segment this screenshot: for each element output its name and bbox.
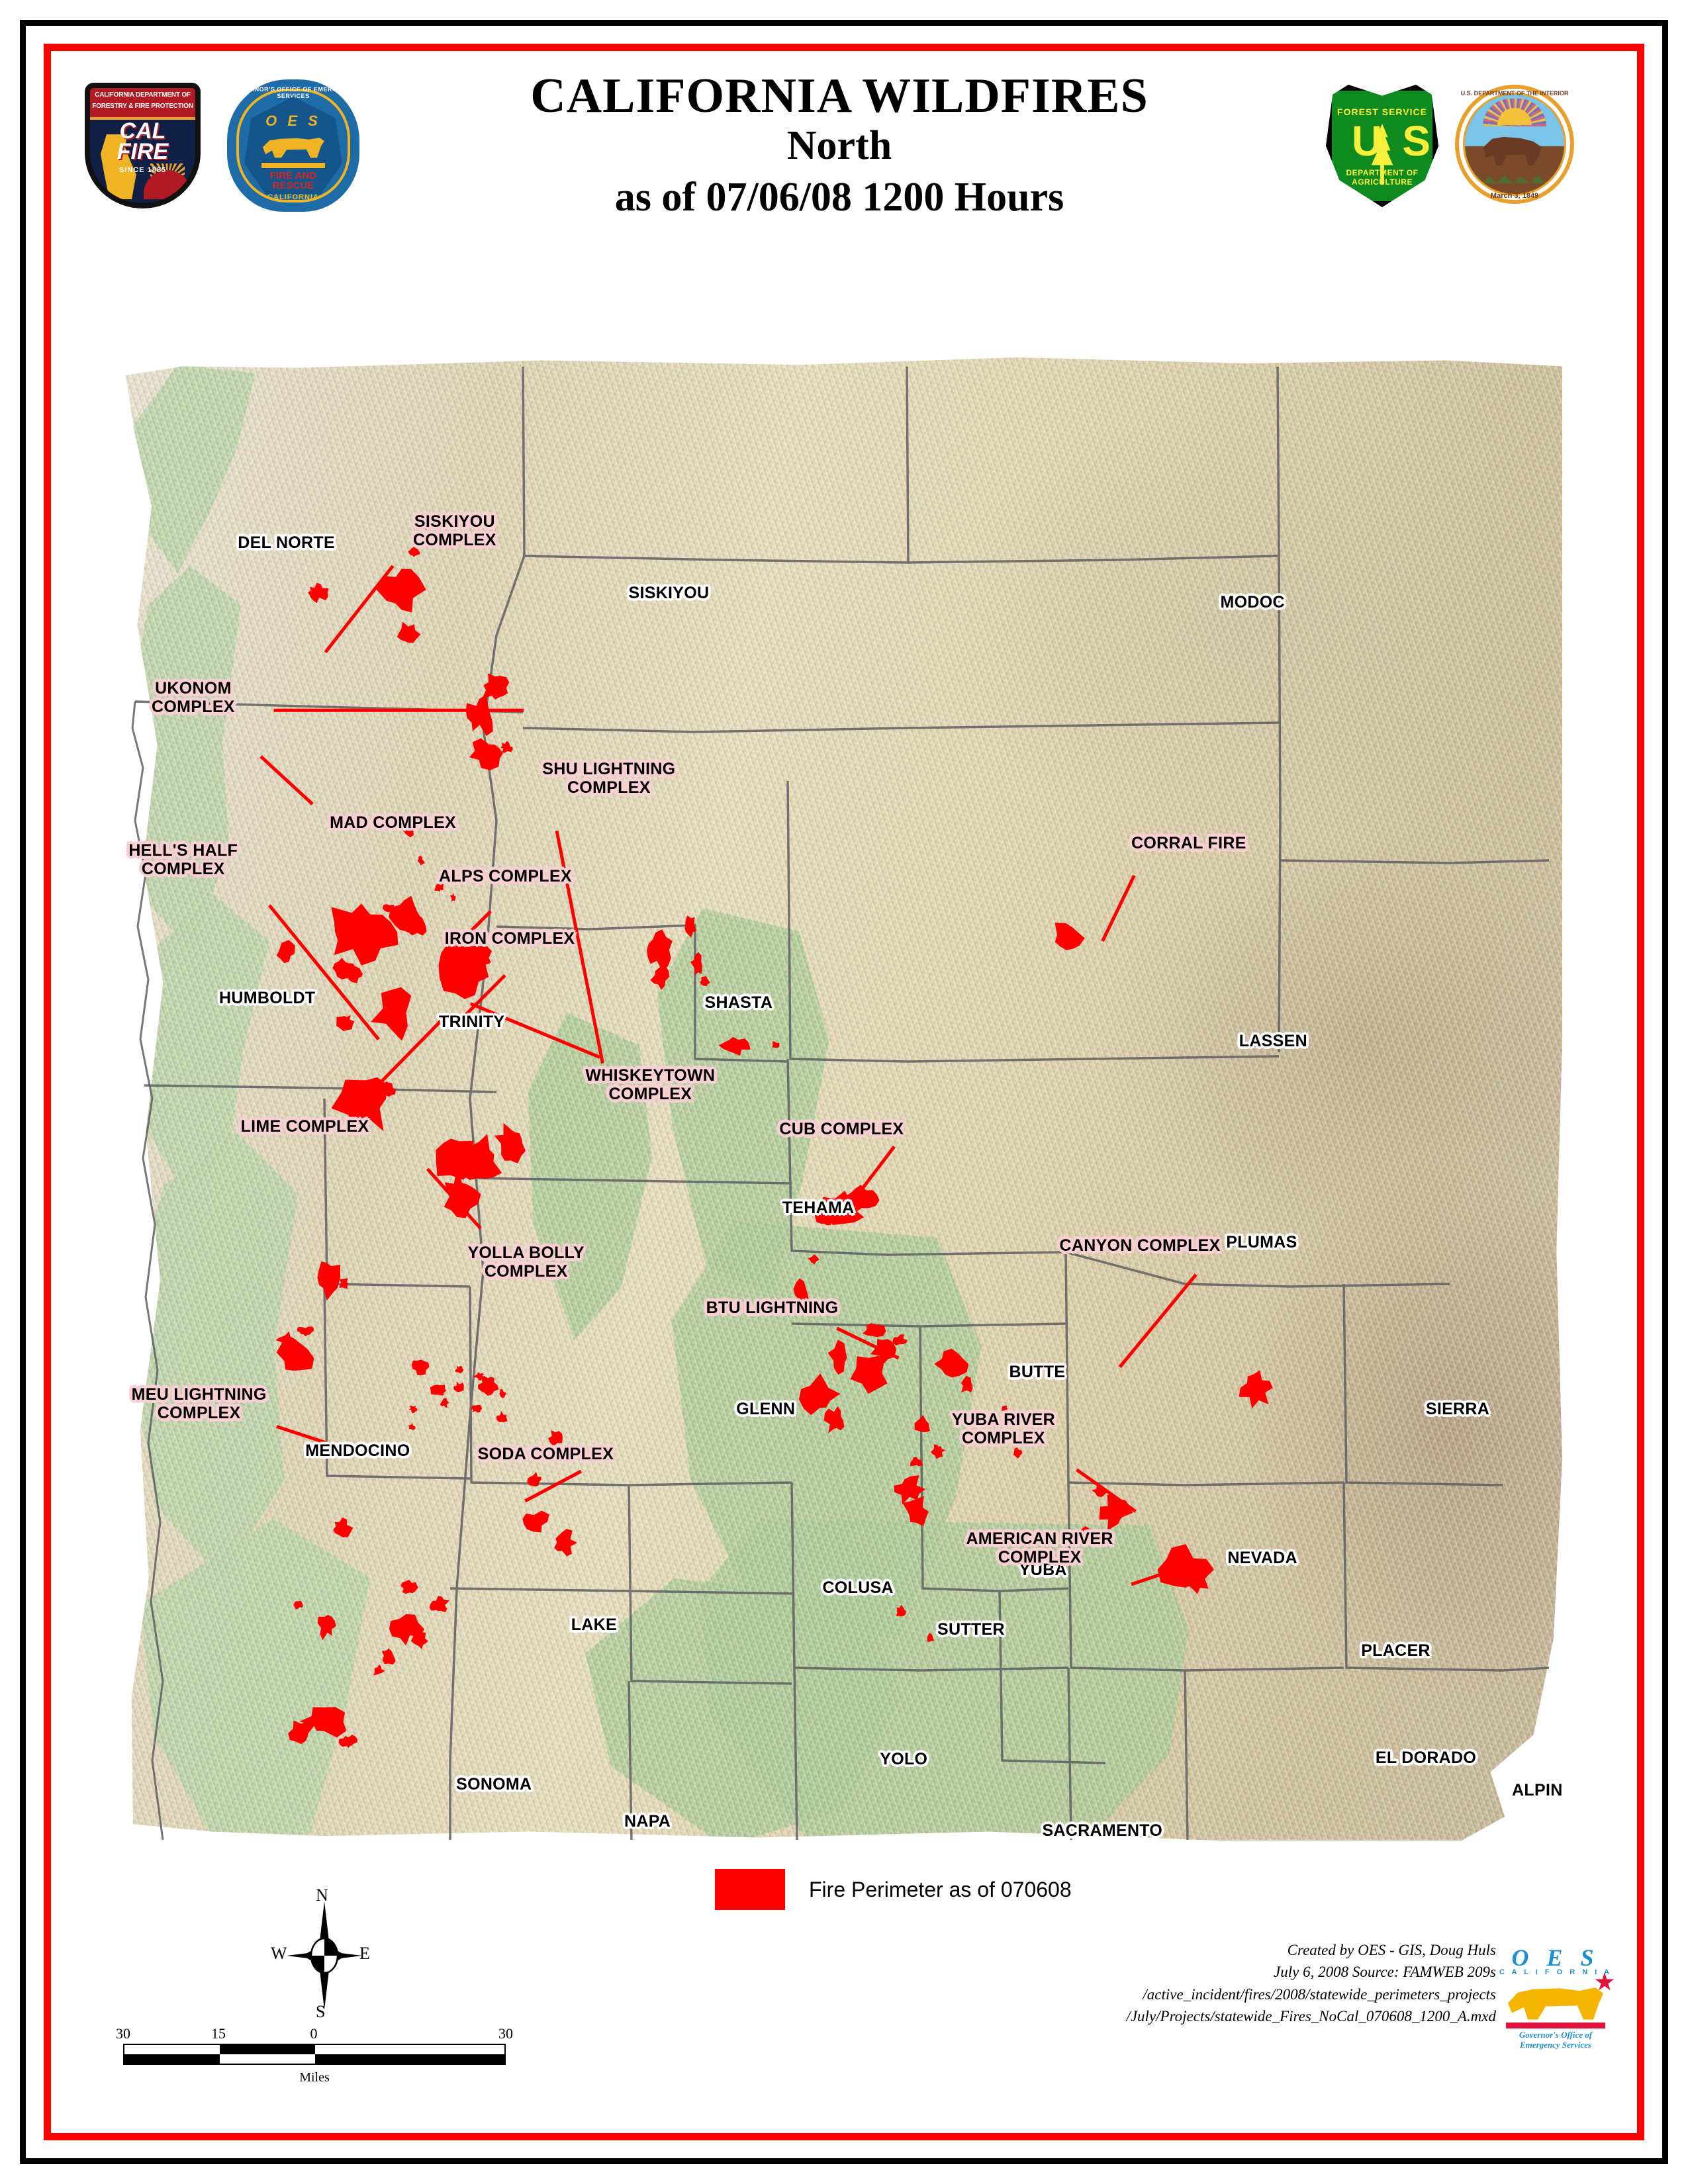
scale-tick-3: 30 — [498, 2025, 513, 2042]
fire-perimeter — [700, 976, 710, 987]
fire-perimeter — [288, 1721, 314, 1745]
fire-perimeter — [915, 1415, 930, 1432]
map-scale-bar: 30 15 0 30 Miles — [113, 2025, 516, 2085]
county-label-modoc: MODOC — [1221, 593, 1285, 612]
fire-label-ukonom-complex: UKONOMCOMPLEX — [152, 679, 235, 716]
fire-perimeter — [799, 1373, 841, 1415]
map-vector-overlay — [126, 357, 1562, 1846]
fire-label-yuba-river-complex: YUBA RIVERCOMPLEX — [952, 1410, 1055, 1447]
oes-initials: O E S — [227, 113, 359, 130]
oes-mark-caption-1: Governor's Office of — [1493, 2030, 1618, 2040]
scale-unit-label: Miles — [113, 2070, 516, 2085]
fire-perimeter — [650, 966, 669, 989]
calfire-since: SINCE 1885 — [90, 166, 195, 174]
county-label-nevada: NEVADA — [1227, 1549, 1297, 1567]
fire-perimeter — [772, 1041, 780, 1048]
fire-label-siskiyou-complex: SISKIYOUCOMPLEX — [413, 512, 496, 549]
doi-date-text: March 3, 1849 — [1455, 192, 1574, 200]
fire-perimeter — [719, 1037, 751, 1056]
fire-perimeter — [1013, 1447, 1023, 1459]
fire-perimeter — [455, 1365, 464, 1373]
bison-icon — [1481, 134, 1544, 166]
fire-perimeter — [548, 1430, 563, 1445]
fire-perimeter — [522, 1511, 549, 1533]
oes-mark-initials: O E S — [1493, 1946, 1618, 1970]
credits-line-3: /active_incident/fires/2008/statewide_pe… — [1126, 1983, 1496, 2005]
fire-perimeter — [927, 1633, 935, 1642]
county-label-sacramento: SACRAMENTO — [1042, 1821, 1162, 1840]
fire-perimeter — [1100, 1494, 1133, 1531]
county-label-mendocino: MENDOCINO — [305, 1441, 410, 1460]
county-label-glenn: GLENN — [736, 1400, 795, 1418]
fire-perimeter — [430, 1385, 446, 1396]
county-label-shasta: SHASTA — [705, 993, 773, 1012]
west-label: W — [271, 1944, 287, 1964]
cal-fire-logo: CALIFORNIA DEPARTMENT OF FORESTRY & FIRE… — [85, 83, 201, 208]
map-legend: Fire Perimeter as of 070608 — [715, 1866, 1218, 1913]
map-header: CALIFORNIA DEPARTMENT OF FORESTRY & FIRE… — [52, 53, 1636, 318]
credits-line-1: Created by OES - GIS, Doug Huls — [1126, 1939, 1496, 1961]
fire-perimeter — [382, 1649, 396, 1665]
fire-perimeter — [317, 1261, 340, 1300]
fire-perimeter — [469, 739, 503, 770]
oes-mark-caption-2: Emergency Services — [1493, 2040, 1618, 2050]
fire-label-corral-fire: CORRAL FIRE — [1131, 834, 1246, 852]
usfs-bottom-text: DEPARTMENT OF AGRICULTURE — [1332, 168, 1432, 187]
department-of-interior-seal: U.S. DEPARTMENT OF THE INTERIOR March 3,… — [1455, 85, 1574, 204]
fire-perimeter — [554, 1529, 577, 1556]
fire-perimeter — [450, 893, 456, 901]
fire-perimeter — [824, 1406, 844, 1433]
fire-label-soda-complex: SODA COMPLEX — [478, 1445, 614, 1463]
fire-perimeter — [293, 1601, 303, 1610]
fire-perimeter — [1239, 1370, 1273, 1408]
title-date: as of 07/06/08 1200 Hours — [363, 172, 1316, 224]
fire-perimeter — [400, 1580, 418, 1594]
east-label: E — [359, 1944, 370, 1964]
county-label-alpine: ALPINE — [1512, 1781, 1562, 1799]
oes-mark-state: C A L I F O R N I A — [1493, 1968, 1618, 1976]
calfire-arc-line2: FORESTRY & FIRE PROTECTION — [90, 99, 195, 111]
county-label-sonoma: SONOMA — [456, 1775, 532, 1794]
fire-perimeter — [902, 1496, 928, 1526]
fire-perimeter — [934, 1349, 968, 1377]
fire-perimeter-polygons — [275, 517, 1273, 1748]
scale-tick-2: 0 — [310, 2025, 318, 2042]
divider — [261, 163, 325, 168]
county-label-lassen: LASSEN — [1239, 1032, 1307, 1050]
county-label-napa: NAPA — [624, 1812, 671, 1831]
usfs-top-text: FOREST SERVICE — [1332, 107, 1432, 117]
fire-perimeter — [408, 1423, 416, 1430]
fire-perimeter — [453, 1381, 464, 1392]
county-label-sutter: SUTTER — [937, 1620, 1005, 1639]
title-main: CALIFORNIA WILDFIRES — [363, 71, 1316, 120]
fire-perimeter — [430, 1596, 450, 1613]
fire-perimeter — [308, 583, 329, 604]
county-label-placer: PLACER — [1361, 1641, 1430, 1660]
fire-perimeter — [499, 1388, 506, 1398]
bear-icon — [1506, 1980, 1605, 2021]
page-title: CALIFORNIA WILDFIRES North as of 07/06/0… — [363, 71, 1316, 223]
county-label-colusa: COLUSA — [822, 1578, 893, 1597]
north-arrow: N S W E — [275, 1889, 374, 2022]
calfire-arc-line1: CALIFORNIA DEPARTMENT OF — [90, 88, 195, 99]
scale-tick-0: 30 — [116, 2025, 130, 2042]
divider — [1506, 2023, 1605, 2028]
county-label-trinity: TRINITY — [439, 1013, 504, 1031]
south-label: S — [316, 2002, 325, 2022]
fire-perimeter — [457, 1134, 502, 1180]
grass-icon — [1473, 169, 1556, 183]
county-label-el-dorado: EL DORADO — [1376, 1749, 1476, 1767]
calfire-name-line2: FIRE — [90, 142, 195, 162]
fire-label-iron-complex: IRON COMPLEX — [445, 929, 575, 948]
county-label-siskiyou: SISKIYOU — [629, 584, 710, 602]
us-forest-service-logo: FOREST SERVICE US DEPARTMENT OF AGRICULT… — [1326, 85, 1438, 207]
fire-label-american-river-complex: AMERICAN RIVERCOMPLEX — [966, 1529, 1113, 1567]
fire-label-whiskeytown-complex: WHISKEYTOWNCOMPLEX — [585, 1066, 715, 1103]
fire-perimeter — [494, 1123, 526, 1163]
title-subtitle: North — [363, 120, 1316, 172]
legend-label: Fire Perimeter as of 070608 — [809, 1878, 1072, 1902]
county-label-humboldt: HUMBOLDT — [219, 989, 315, 1007]
fire-perimeter — [1092, 1484, 1108, 1497]
north-label: N — [316, 1886, 328, 1905]
fire-perimeter — [373, 1664, 385, 1676]
credits-line-4: /July/Projects/statewide_Fires_NoCal_070… — [1126, 2005, 1496, 2027]
fire-perimeter — [397, 621, 421, 643]
oes-california-logo: O E S C A L I F O R N I A Governor's Off… — [1493, 1946, 1618, 2071]
fire-perimeter — [647, 929, 673, 972]
fire-perimeter — [318, 1615, 336, 1640]
fire-perimeter — [297, 1326, 314, 1336]
oes-state-label: CALIFORNIA — [227, 193, 359, 201]
wildfire-map[interactable]: DEL NORTESISKIYOUMODOCHUMBOLDTTRINITYSHA… — [126, 357, 1562, 1846]
fire-leader-lines — [261, 566, 1196, 1584]
fire-perimeter — [500, 741, 512, 753]
fire-perimeter — [828, 1340, 847, 1375]
county-label-plumas: PLUMAS — [1226, 1233, 1297, 1251]
oes-fire-line2: RESCUE — [227, 181, 359, 191]
fire-perimeter — [466, 695, 493, 736]
fire-perimeter — [333, 1518, 353, 1537]
fire-perimeter — [471, 1405, 482, 1413]
credits-line-2: July 6, 2008 Source: FAMWEB 209s — [1126, 1961, 1496, 1983]
county-label-sierra: SIERRA — [1426, 1400, 1489, 1418]
fire-perimeter — [277, 940, 295, 963]
fire-perimeter — [931, 1444, 945, 1459]
map-credits: Created by OES - GIS, Doug Huls July 6, … — [1126, 1939, 1496, 2027]
fire-label-canyon-complex: CANYON COMPLEX — [1060, 1236, 1221, 1255]
fire-label-lime-complex: LIME COMPLEX — [241, 1117, 369, 1136]
county-label-yolo: YOLO — [880, 1750, 927, 1768]
fire-perimeter — [961, 1376, 972, 1392]
county-label-butte: BUTTE — [1009, 1363, 1066, 1381]
fire-perimeter — [336, 1015, 354, 1032]
fire-label-btu-lightning: BTU LIGHTNING — [706, 1298, 839, 1317]
county-label-tehama: TEHAMA — [782, 1199, 855, 1217]
fire-label-cub-complex: CUB COMPLEX — [779, 1120, 904, 1138]
fire-perimeter — [690, 952, 702, 976]
fire-perimeter — [409, 1406, 418, 1414]
fire-perimeter — [896, 1605, 906, 1617]
fire-perimeter — [339, 1735, 357, 1748]
fire-label-alps-complex: ALPS COMPLEX — [439, 867, 572, 886]
fire-perimeter — [808, 1254, 820, 1265]
fire-perimeter — [893, 1334, 908, 1345]
fire-perimeter — [412, 1359, 429, 1375]
fire-label-shu-lightning-complex: SHU LIGHTNINGCOMPLEX — [542, 760, 675, 797]
fire-perimeter — [1055, 923, 1084, 950]
scale-bar-graphic — [123, 2044, 506, 2065]
scale-tick-labels: 30 15 0 30 — [113, 2025, 516, 2044]
scale-tick-1: 15 — [211, 2025, 226, 2042]
legend-swatch-fire-perimeter — [715, 1869, 785, 1910]
county-label-lake: LAKE — [571, 1615, 617, 1634]
oes-fire-and-rescue-logo: GOVERNOR'S OFFICE OF EMERGENCY SERVICES … — [227, 79, 359, 212]
fire-label-yolla-bolly-complex: YOLLA BOLLYCOMPLEX — [467, 1244, 584, 1281]
fire-perimeter — [371, 987, 411, 1041]
county-label-del-norte: DEL NORTE — [238, 533, 335, 552]
fire-label-meu-lightning-complex: MEU LIGHTNINGCOMPLEX — [132, 1385, 267, 1422]
fire-perimeter — [440, 1398, 449, 1408]
fire-label-hell-s-half-complex: HELL'S HALFCOMPLEX — [128, 841, 238, 878]
fire-label-mad-complex: MAD COMPLEX — [330, 813, 456, 832]
fire-perimeter — [418, 856, 425, 866]
doi-ring-text: U.S. DEPARTMENT OF THE INTERIOR — [1455, 90, 1574, 97]
fire-perimeter — [496, 1411, 508, 1422]
oes-fire-line1: FIRE AND — [227, 171, 359, 181]
fire-perimeter — [332, 903, 399, 965]
